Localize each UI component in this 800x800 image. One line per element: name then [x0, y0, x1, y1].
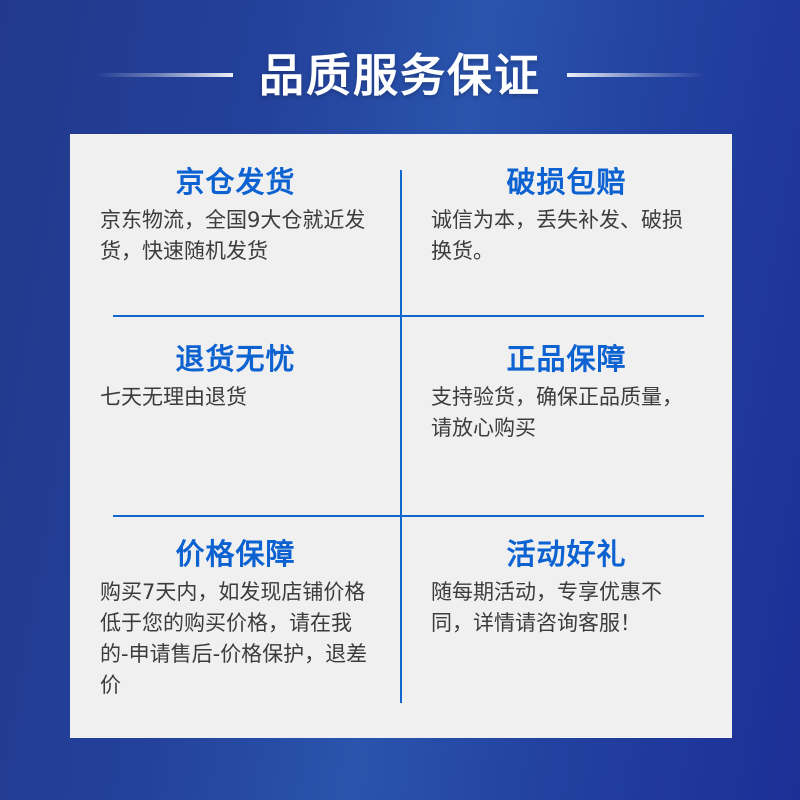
header-decoration-line-right [567, 73, 702, 77]
service-description: 京东物流，全国9大仓就近发货，快速随机发货 [100, 205, 371, 267]
service-title: 活动好礼 [431, 538, 702, 570]
horizontal-divider-bottom [113, 515, 704, 517]
vertical-divider [400, 170, 402, 703]
service-description: 七天无理由退货 [100, 382, 371, 413]
page-title: 品质服务保证 [259, 53, 541, 98]
service-cell-jiage-baozhang: 价格保障 购买7天内，如发现店铺价格低于您的购买价格，请在我的-申请售后-价格保… [70, 515, 401, 738]
service-description: 诚信为本，丢失补发、破损换货。 [431, 205, 702, 267]
service-cell-tuihuo-wuyou: 退货无忧 七天无理由退货 [70, 315, 401, 515]
service-cell-jingcang-fahuo: 京仓发货 京东物流，全国9大仓就近发货，快速随机发货 [70, 134, 401, 315]
service-title: 退货无忧 [100, 343, 371, 375]
horizontal-divider-top [113, 315, 704, 317]
service-title: 京仓发货 [100, 166, 371, 198]
service-description: 支持验货，确保正品质量，请放心购买 [431, 382, 702, 444]
service-title: 价格保障 [100, 538, 371, 570]
service-description: 购买7天内，如发现店铺价格低于您的购买价格，请在我的-申请售后-价格保护，退差价 [100, 577, 371, 700]
service-cell-posun-baopei: 破损包赔 诚信为本，丢失补发、破损换货。 [401, 134, 732, 315]
header-decoration-line-left [98, 73, 233, 77]
service-cell-zhengpin-baozhang: 正品保障 支持验货，确保正品质量，请放心购买 [401, 315, 732, 515]
banner-header: 品质服务保证 [0, 40, 800, 110]
service-title: 破损包赔 [431, 166, 702, 198]
service-guarantee-panel: 京仓发货 京东物流，全国9大仓就近发货，快速随机发货 破损包赔 诚信为本，丢失补… [70, 134, 732, 738]
service-title: 正品保障 [431, 343, 702, 375]
service-cell-huodong-haoli: 活动好礼 随每期活动，专享优惠不同，详情请咨询客服！ [401, 515, 732, 738]
promo-banner: 品质服务保证 京仓发货 京东物流，全国9大仓就近发货，快速随机发货 破损包赔 诚… [0, 0, 800, 800]
service-description: 随每期活动，专享优惠不同，详情请咨询客服！ [431, 577, 702, 639]
